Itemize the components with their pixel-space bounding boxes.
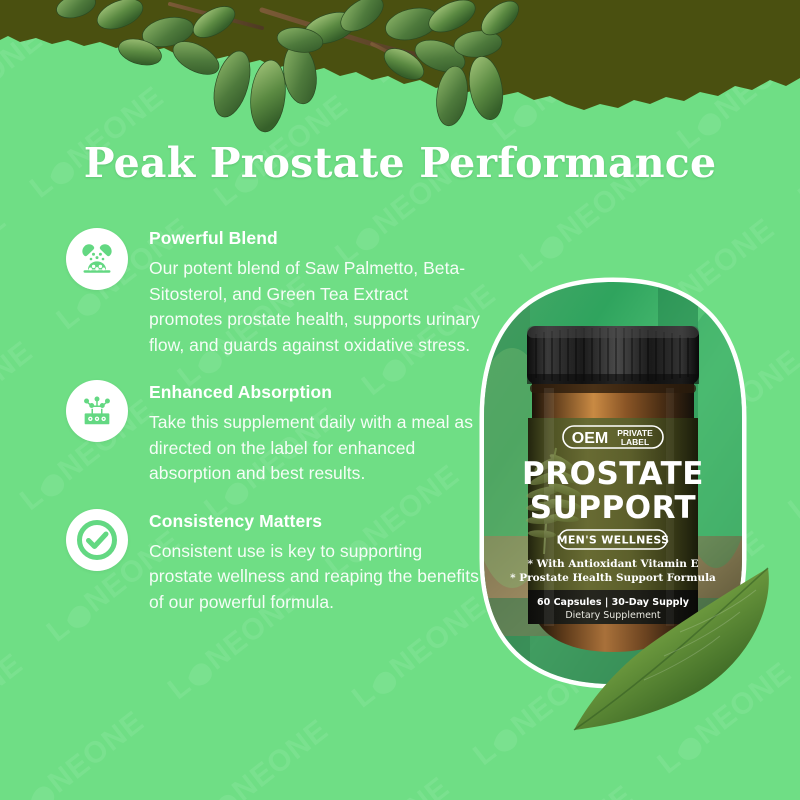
category-badge: MEN'S WELLNESS bbox=[557, 534, 670, 547]
feature-body: Take this supplement daily with a meal a… bbox=[149, 410, 486, 487]
feature-item: Powerful Blend Our potent blend of Saw P… bbox=[66, 228, 486, 358]
page-title: Peak Prostate Performance bbox=[0, 139, 800, 187]
absorption-molecules-icon bbox=[66, 380, 128, 442]
feature-item: Consistency Matters Consistent use is ke… bbox=[66, 509, 486, 616]
feature-title: Consistency Matters bbox=[149, 511, 486, 532]
supplement-line: Dietary Supplement bbox=[565, 610, 661, 621]
feature-list: Powerful Blend Our potent blend of Saw P… bbox=[66, 228, 486, 637]
check-circle-icon bbox=[66, 509, 128, 571]
feature-body: Our potent blend of Saw Palmetto, Beta-S… bbox=[149, 256, 486, 358]
capsule-powder-icon bbox=[66, 228, 128, 290]
promo-graphic: L NEONE bbox=[0, 0, 800, 800]
top-torn-band bbox=[0, 0, 800, 135]
brand-badge-main: OEM bbox=[572, 430, 608, 447]
feature-body: Consistent use is key to supporting pros… bbox=[149, 539, 486, 616]
brand-badge-line2: LABEL bbox=[621, 437, 649, 447]
claim-line-2: * Prostate Health Support Formula bbox=[510, 572, 716, 584]
feature-title: Powerful Blend bbox=[149, 228, 486, 249]
feature-item: Enhanced Absorption Take this supplement… bbox=[66, 380, 486, 487]
product-image: OEM PRIVATE LABEL PROSTATE SUPPORT MEN'S… bbox=[470, 268, 756, 698]
feature-title: Enhanced Absorption bbox=[149, 382, 486, 403]
